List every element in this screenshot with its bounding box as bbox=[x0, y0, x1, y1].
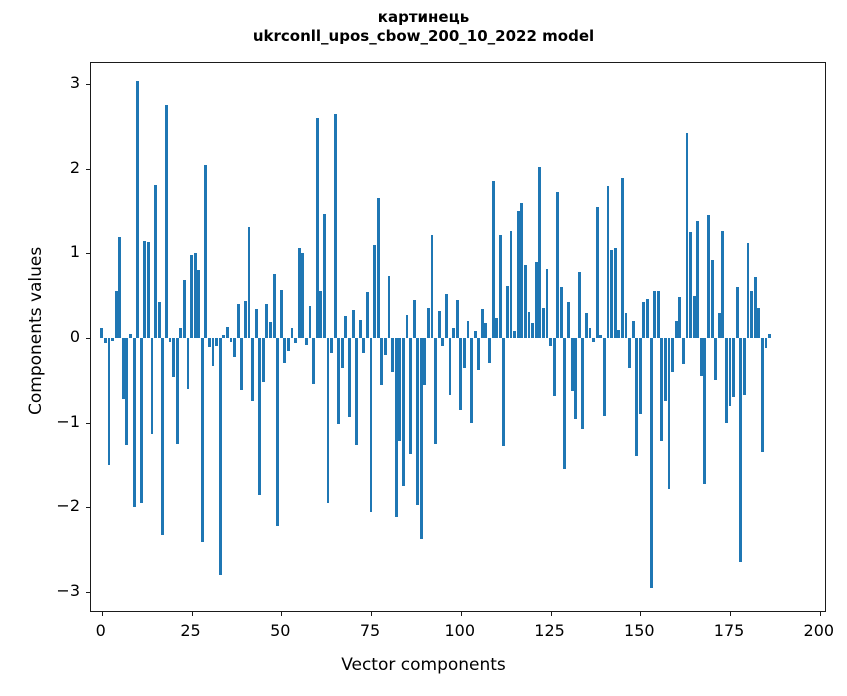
bar bbox=[610, 250, 613, 338]
x-tick-mark bbox=[281, 611, 282, 616]
bar bbox=[377, 198, 380, 338]
bar bbox=[520, 203, 523, 338]
bar bbox=[474, 331, 477, 338]
y-tick-mark bbox=[86, 423, 91, 424]
bar bbox=[111, 338, 114, 341]
bar bbox=[682, 338, 685, 364]
bar bbox=[757, 308, 760, 338]
y-tick-label: −3 bbox=[20, 583, 80, 599]
chart-title-line-1: картинець bbox=[0, 8, 847, 27]
bar bbox=[625, 313, 628, 338]
bar bbox=[696, 221, 699, 338]
bar bbox=[653, 291, 656, 338]
bar bbox=[492, 181, 495, 338]
bar bbox=[506, 286, 509, 338]
bar bbox=[488, 338, 491, 363]
bar bbox=[531, 323, 534, 338]
bar bbox=[384, 338, 387, 355]
bar bbox=[327, 338, 330, 503]
bar bbox=[535, 262, 538, 338]
x-axis-label: Vector components bbox=[0, 655, 847, 675]
bar bbox=[736, 287, 739, 338]
bar bbox=[237, 304, 240, 338]
bar bbox=[686, 133, 689, 338]
x-tick-mark bbox=[461, 611, 462, 616]
bar bbox=[642, 302, 645, 338]
bar bbox=[524, 265, 527, 338]
bar bbox=[344, 316, 347, 338]
bar bbox=[420, 338, 423, 539]
bar bbox=[703, 338, 706, 484]
bar bbox=[452, 328, 455, 338]
bar bbox=[301, 253, 304, 338]
bar bbox=[212, 338, 215, 366]
bar bbox=[298, 248, 301, 338]
bar bbox=[542, 308, 545, 338]
bar bbox=[729, 338, 732, 406]
y-tick-label: 3 bbox=[20, 75, 80, 91]
bar bbox=[337, 338, 340, 424]
x-tick-label: 150 bbox=[609, 623, 669, 639]
y-tick-label: 0 bbox=[20, 329, 80, 345]
bar bbox=[334, 114, 337, 338]
bar bbox=[230, 338, 233, 342]
bar bbox=[283, 338, 286, 363]
bar bbox=[312, 338, 315, 384]
bar bbox=[714, 338, 717, 380]
y-tick-mark bbox=[86, 253, 91, 254]
bar bbox=[273, 274, 276, 338]
bar bbox=[678, 297, 681, 338]
bar bbox=[747, 243, 750, 338]
bar bbox=[560, 287, 563, 338]
bar bbox=[578, 272, 581, 338]
bar bbox=[463, 338, 466, 368]
bar bbox=[739, 338, 742, 562]
bar bbox=[449, 338, 452, 395]
bar bbox=[402, 338, 405, 486]
y-tick-mark bbox=[86, 592, 91, 593]
bar bbox=[104, 338, 107, 343]
bar bbox=[635, 338, 638, 456]
chart-title: картинець ukrconll_upos_cbow_200_10_2022… bbox=[0, 8, 847, 46]
bar bbox=[161, 338, 164, 535]
bar bbox=[201, 338, 204, 542]
bar bbox=[477, 338, 480, 370]
bar bbox=[388, 276, 391, 338]
bar bbox=[323, 214, 326, 338]
bar bbox=[108, 338, 111, 465]
bar bbox=[438, 311, 441, 338]
bar bbox=[481, 309, 484, 338]
bar bbox=[499, 235, 502, 338]
bar bbox=[639, 338, 642, 414]
bar bbox=[528, 312, 531, 338]
bar bbox=[265, 304, 268, 338]
bar bbox=[305, 338, 308, 345]
bar bbox=[707, 215, 710, 338]
x-tick-label: 100 bbox=[430, 623, 490, 639]
bar bbox=[330, 338, 333, 353]
bar bbox=[689, 232, 692, 338]
y-tick-mark bbox=[86, 338, 91, 339]
bar bbox=[693, 296, 696, 338]
bar bbox=[341, 338, 344, 368]
bar bbox=[258, 338, 261, 495]
bar bbox=[596, 207, 599, 338]
bar bbox=[581, 338, 584, 429]
bar bbox=[316, 118, 319, 338]
bar bbox=[143, 241, 146, 338]
bar bbox=[628, 338, 631, 368]
bar bbox=[197, 270, 200, 338]
x-tick-mark bbox=[730, 611, 731, 616]
bar bbox=[380, 338, 383, 385]
bar bbox=[319, 291, 322, 338]
bar bbox=[176, 338, 179, 444]
bar bbox=[517, 211, 520, 338]
bar bbox=[657, 291, 660, 338]
bar bbox=[373, 245, 376, 338]
bar bbox=[269, 322, 272, 338]
bar bbox=[617, 330, 620, 338]
bar bbox=[549, 338, 552, 346]
bar bbox=[118, 237, 121, 338]
bar bbox=[248, 227, 251, 338]
bar bbox=[599, 335, 602, 338]
y-tick-mark bbox=[86, 84, 91, 85]
bar bbox=[646, 299, 649, 338]
x-tick-mark bbox=[371, 611, 372, 616]
bar bbox=[567, 302, 570, 338]
bar bbox=[370, 338, 373, 512]
bar bbox=[133, 338, 136, 507]
y-tick-label: −2 bbox=[20, 498, 80, 514]
bar bbox=[262, 338, 265, 382]
bar bbox=[585, 313, 588, 338]
bar bbox=[556, 192, 559, 338]
bar bbox=[621, 178, 624, 338]
bar bbox=[309, 306, 312, 338]
bar bbox=[226, 327, 229, 338]
bar bbox=[502, 338, 505, 446]
y-tick-label: 1 bbox=[20, 244, 80, 260]
bar bbox=[459, 338, 462, 410]
x-tick-label: 25 bbox=[161, 623, 221, 639]
bar bbox=[546, 269, 549, 338]
bar bbox=[571, 338, 574, 391]
bar bbox=[219, 338, 222, 575]
bar bbox=[607, 186, 610, 338]
bar bbox=[151, 338, 154, 434]
bar bbox=[721, 231, 724, 338]
x-tick-label: 0 bbox=[71, 623, 131, 639]
bar bbox=[398, 338, 401, 441]
bar bbox=[255, 309, 258, 338]
bar bbox=[614, 248, 617, 338]
bar bbox=[355, 338, 358, 445]
bar bbox=[768, 334, 771, 338]
bar bbox=[165, 105, 168, 338]
bar bbox=[761, 338, 764, 452]
bar bbox=[765, 338, 768, 348]
x-tick-mark bbox=[192, 611, 193, 616]
bar bbox=[287, 338, 290, 351]
bar bbox=[251, 338, 254, 401]
matplotlib-figure: картинець ukrconll_upos_cbow_200_10_2022… bbox=[0, 0, 847, 696]
bar bbox=[100, 328, 103, 338]
bar bbox=[563, 338, 566, 469]
bar bbox=[538, 167, 541, 338]
plot-axes bbox=[90, 62, 826, 612]
bar bbox=[632, 321, 635, 338]
bar bbox=[409, 338, 412, 454]
bar bbox=[172, 338, 175, 377]
bar bbox=[513, 331, 516, 338]
x-tick-mark bbox=[640, 611, 641, 616]
bar bbox=[660, 338, 663, 441]
bar bbox=[413, 300, 416, 338]
y-tick-label: 2 bbox=[20, 160, 80, 176]
bar bbox=[359, 320, 362, 338]
bar bbox=[366, 292, 369, 338]
chart-title-line-2: ukrconll_upos_cbow_200_10_2022 model bbox=[0, 27, 847, 46]
bar bbox=[431, 235, 434, 338]
x-tick-label: 50 bbox=[250, 623, 310, 639]
bar bbox=[362, 338, 365, 353]
x-tick-label: 200 bbox=[789, 623, 847, 639]
bar bbox=[603, 338, 606, 416]
bar bbox=[276, 338, 279, 526]
bar bbox=[187, 338, 190, 389]
bar bbox=[183, 280, 186, 338]
bar bbox=[204, 165, 207, 338]
x-tick-label: 125 bbox=[520, 623, 580, 639]
bar bbox=[136, 81, 139, 338]
bar bbox=[280, 290, 283, 338]
bar bbox=[732, 338, 735, 397]
bar bbox=[291, 328, 294, 338]
bar bbox=[718, 313, 721, 338]
bar bbox=[668, 338, 671, 489]
bar bbox=[208, 338, 211, 347]
bar bbox=[743, 338, 746, 395]
bar bbox=[434, 338, 437, 444]
bars-container bbox=[91, 63, 825, 611]
bar bbox=[671, 338, 674, 372]
x-tick-mark bbox=[102, 611, 103, 616]
bar bbox=[650, 338, 653, 588]
bar bbox=[395, 338, 398, 517]
y-tick-mark bbox=[86, 507, 91, 508]
bar bbox=[169, 338, 172, 342]
bar bbox=[122, 338, 125, 399]
bar bbox=[406, 315, 409, 338]
bar bbox=[445, 294, 448, 338]
bar bbox=[158, 302, 161, 338]
bar bbox=[725, 338, 728, 423]
x-tick-mark bbox=[551, 611, 552, 616]
bar bbox=[750, 291, 753, 338]
bar bbox=[129, 334, 132, 338]
bar bbox=[154, 185, 157, 338]
bar bbox=[115, 291, 118, 338]
bar bbox=[179, 328, 182, 338]
y-tick-mark bbox=[86, 169, 91, 170]
bar bbox=[140, 338, 143, 503]
bar bbox=[215, 338, 218, 346]
bar bbox=[222, 335, 225, 338]
bar bbox=[441, 338, 444, 346]
x-tick-label: 75 bbox=[340, 623, 400, 639]
bar bbox=[352, 310, 355, 338]
bar bbox=[592, 338, 595, 342]
bar bbox=[711, 260, 714, 338]
bar bbox=[190, 255, 193, 338]
bar bbox=[125, 338, 128, 445]
bar bbox=[510, 231, 513, 338]
bar bbox=[423, 338, 426, 385]
bar bbox=[664, 338, 667, 401]
bar bbox=[574, 338, 577, 419]
bar bbox=[456, 300, 459, 338]
bar bbox=[470, 338, 473, 423]
bar bbox=[416, 338, 419, 505]
y-tick-label: −1 bbox=[20, 414, 80, 430]
bar bbox=[589, 328, 592, 338]
bar bbox=[194, 253, 197, 338]
bar bbox=[147, 242, 150, 338]
bar bbox=[244, 301, 247, 338]
bar bbox=[467, 321, 470, 338]
bar bbox=[427, 308, 430, 338]
bar bbox=[240, 338, 243, 390]
bar bbox=[294, 338, 297, 343]
bar bbox=[754, 277, 757, 338]
bar bbox=[348, 338, 351, 417]
bar bbox=[553, 338, 556, 396]
x-tick-label: 175 bbox=[699, 623, 759, 639]
bar bbox=[391, 338, 394, 372]
x-tick-mark bbox=[820, 611, 821, 616]
bar bbox=[484, 323, 487, 338]
bar bbox=[675, 321, 678, 338]
bar bbox=[700, 338, 703, 376]
bar bbox=[495, 318, 498, 338]
bar bbox=[233, 338, 236, 357]
